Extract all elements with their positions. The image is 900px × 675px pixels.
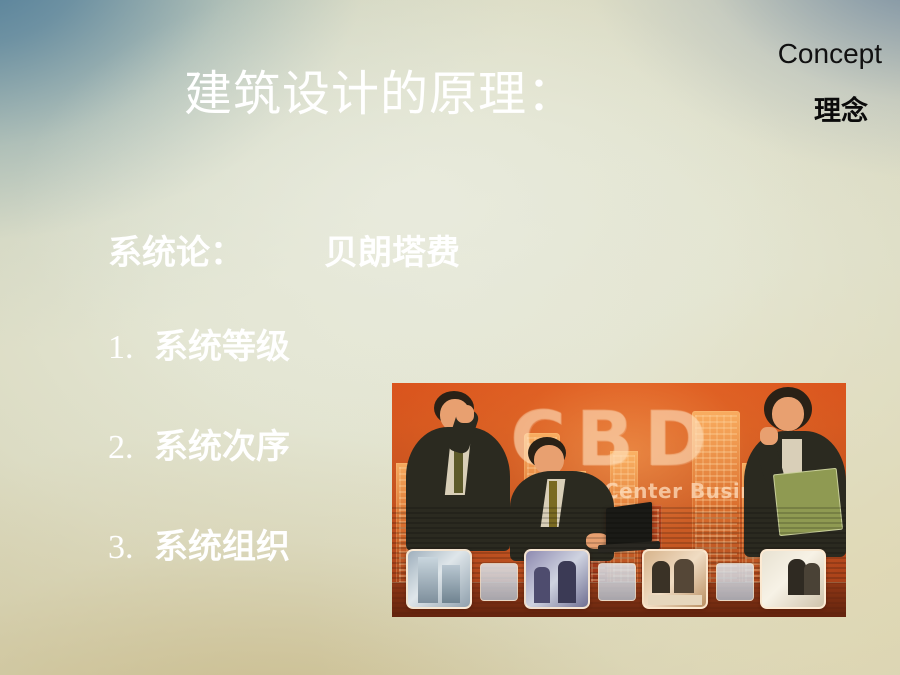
image-mini-panel: [716, 563, 754, 601]
image-thumbnail: [524, 549, 590, 609]
subtitle-row: 系统论：贝朗塔费: [108, 236, 460, 270]
list-item-label: 系统组织: [154, 530, 290, 564]
image-thumbnail: [406, 549, 472, 609]
numbered-list: 1. 系统等级 2. 系统次序 3. 系统组织: [108, 330, 290, 630]
concept-label-en: Concept: [778, 40, 882, 68]
list-item-number: 3.: [108, 531, 154, 565]
list-item-number: 2.: [108, 431, 154, 465]
image-thumbnail: [642, 549, 708, 609]
image-thumbnail: [760, 549, 826, 609]
list-item: 3. 系统组织: [108, 530, 290, 630]
list-item-label: 系统次序: [154, 430, 290, 464]
presentation-slide: 建筑设计的原理： Concept 理念 系统论：贝朗塔费 1. 系统等级 2. …: [0, 0, 900, 675]
slide-title: 建筑设计的原理：: [0, 70, 760, 118]
subtitle-term: 系统论：: [108, 233, 244, 273]
concept-label-cn: 理念: [814, 98, 868, 125]
list-item: 1. 系统等级: [108, 330, 290, 430]
image-mini-panel: [480, 563, 518, 601]
cbd-business-image: CBD Center Business Distract: [392, 383, 846, 617]
list-item-label: 系统等级: [154, 330, 290, 364]
list-item-number: 1.: [108, 331, 154, 365]
image-mini-panel: [598, 563, 636, 601]
list-item: 2. 系统次序: [108, 430, 290, 530]
subtitle-name: 贝朗塔费: [324, 233, 460, 273]
